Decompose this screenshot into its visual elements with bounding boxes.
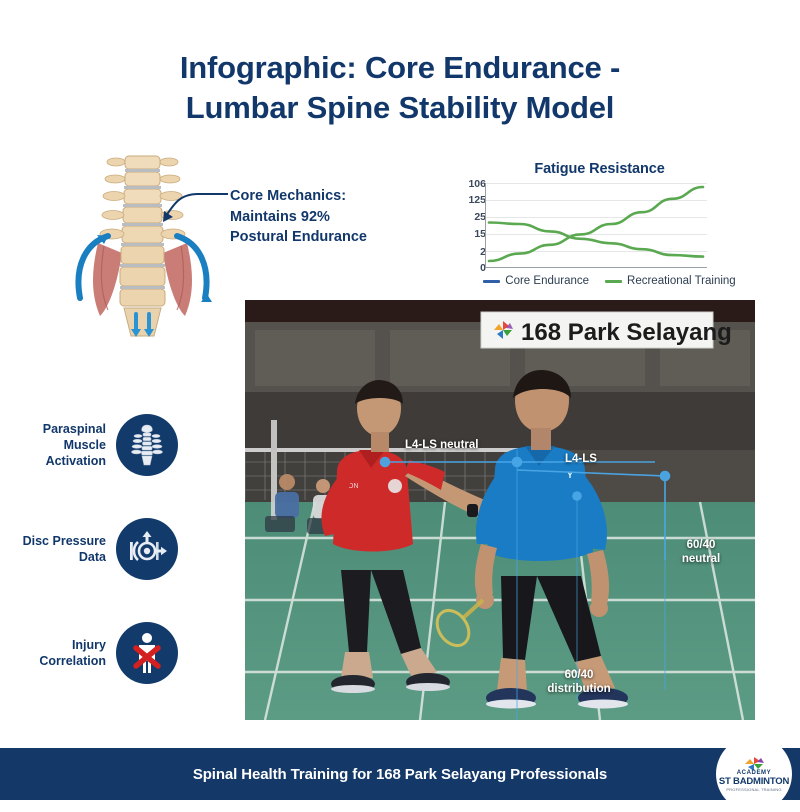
ann-6040-distribution: 60/40 distribution (537, 668, 621, 696)
page-title-line1: Infographic: Core Endurance - (180, 50, 620, 85)
y-tick-2: 25 (456, 212, 486, 223)
ann-line-1: 60/40 (537, 668, 621, 682)
fatigue-resistance-chart: Fatigue Resistance 106 125 25 15 2 0 Cor… (447, 157, 752, 302)
footer-bar: Spinal Health Training for 168 Park Sela… (0, 748, 800, 800)
sidebar-item-disc-pressure-data[interactable]: Disc Pressure Data (14, 518, 178, 580)
chart-series-line (489, 223, 703, 257)
chart-legend: Core Endurance Recreational Training (477, 275, 742, 287)
legend-swatch-icon (605, 280, 622, 283)
callout-leader-arrow (150, 186, 196, 226)
y-tick-0: 106 (456, 179, 486, 190)
page-title-line2: Lumbar Spine Stability Model (90, 88, 710, 128)
sidebar-item-label: Paraspinal Muscle Activation (14, 421, 106, 470)
venue-banner: 168 Park Selayang (481, 312, 732, 348)
sidebar-item-label: Disc Pressure Data (14, 533, 106, 566)
footer-text: Spinal Health Training for 168 Park Sela… (193, 766, 607, 783)
page-title: Infographic: Core Endurance - Lumbar Spi… (90, 48, 710, 127)
legend-label: Recreational Training (627, 275, 736, 287)
chart-plot-area (485, 183, 707, 268)
label-line-2: Correlation (14, 653, 106, 669)
chart-series-layer (485, 183, 707, 268)
ann-6040-neutral: 60/40 neutral (669, 538, 733, 566)
svg-text:168 Park Selayang: 168 Park Selayang (521, 319, 732, 346)
label-line-2: Muscle (14, 437, 106, 453)
label-line-3: Activation (14, 453, 106, 469)
core-mechanics-callout: Core Mechanics: Maintains 92% Postural E… (230, 186, 420, 248)
lumbar-spine-illustration (70, 148, 215, 338)
label-line-1: Paraspinal (14, 421, 106, 437)
infographic-page: Infographic: Core Endurance - Lumbar Spi… (0, 0, 800, 800)
pressure-gauge-icon (116, 518, 178, 580)
label-line-1: Injury (14, 637, 106, 653)
training-photo: 168 Park Selayang (245, 300, 755, 720)
y-tick-3: 15 (456, 229, 486, 240)
callout-line-2: Maintains 92% (230, 207, 420, 228)
sidebar-item-label: Injury Correlation (14, 637, 106, 670)
chart-title: Fatigue Resistance (447, 157, 752, 177)
label-line-1: Disc Pressure (14, 533, 106, 549)
academy-logo: ACADEMY ST BADMINTON PROFESSIONAL TRAINI… (716, 736, 792, 812)
y-tick-4: 2 (456, 247, 486, 258)
ann-line-1: 60/40 (669, 538, 733, 552)
label-line-2: Data (14, 549, 106, 565)
ann-line-2: distribution (537, 682, 621, 696)
logo-sub-text: PROFESSIONAL TRAINING (726, 787, 781, 792)
legend-label: Core Endurance (505, 275, 589, 287)
sidebar-item-injury-correlation[interactable]: Injury Correlation (14, 622, 178, 684)
sidebar-item-paraspinal-muscle-activation[interactable]: Paraspinal Muscle Activation (14, 414, 178, 476)
injury-person-x-icon (116, 622, 178, 684)
legend-item-core-endurance: Core Endurance (483, 275, 589, 287)
callout-line-1: Core Mechanics: (230, 186, 420, 207)
y-tick-1: 125 (456, 195, 486, 206)
spine-icon (116, 414, 178, 476)
callout-line-3: Postural Endurance (230, 227, 420, 248)
ann-l4ls-neutral: L4-LS neutral (405, 438, 478, 452)
y-tick-5: 0 (456, 263, 486, 274)
legend-item-recreational-training: Recreational Training (605, 275, 736, 287)
legend-swatch-icon (483, 280, 500, 283)
ann-l4ls: L4-LS (565, 452, 597, 466)
logo-main-text: ST BADMINTON (719, 776, 789, 787)
ann-line-2: neutral (669, 552, 733, 566)
